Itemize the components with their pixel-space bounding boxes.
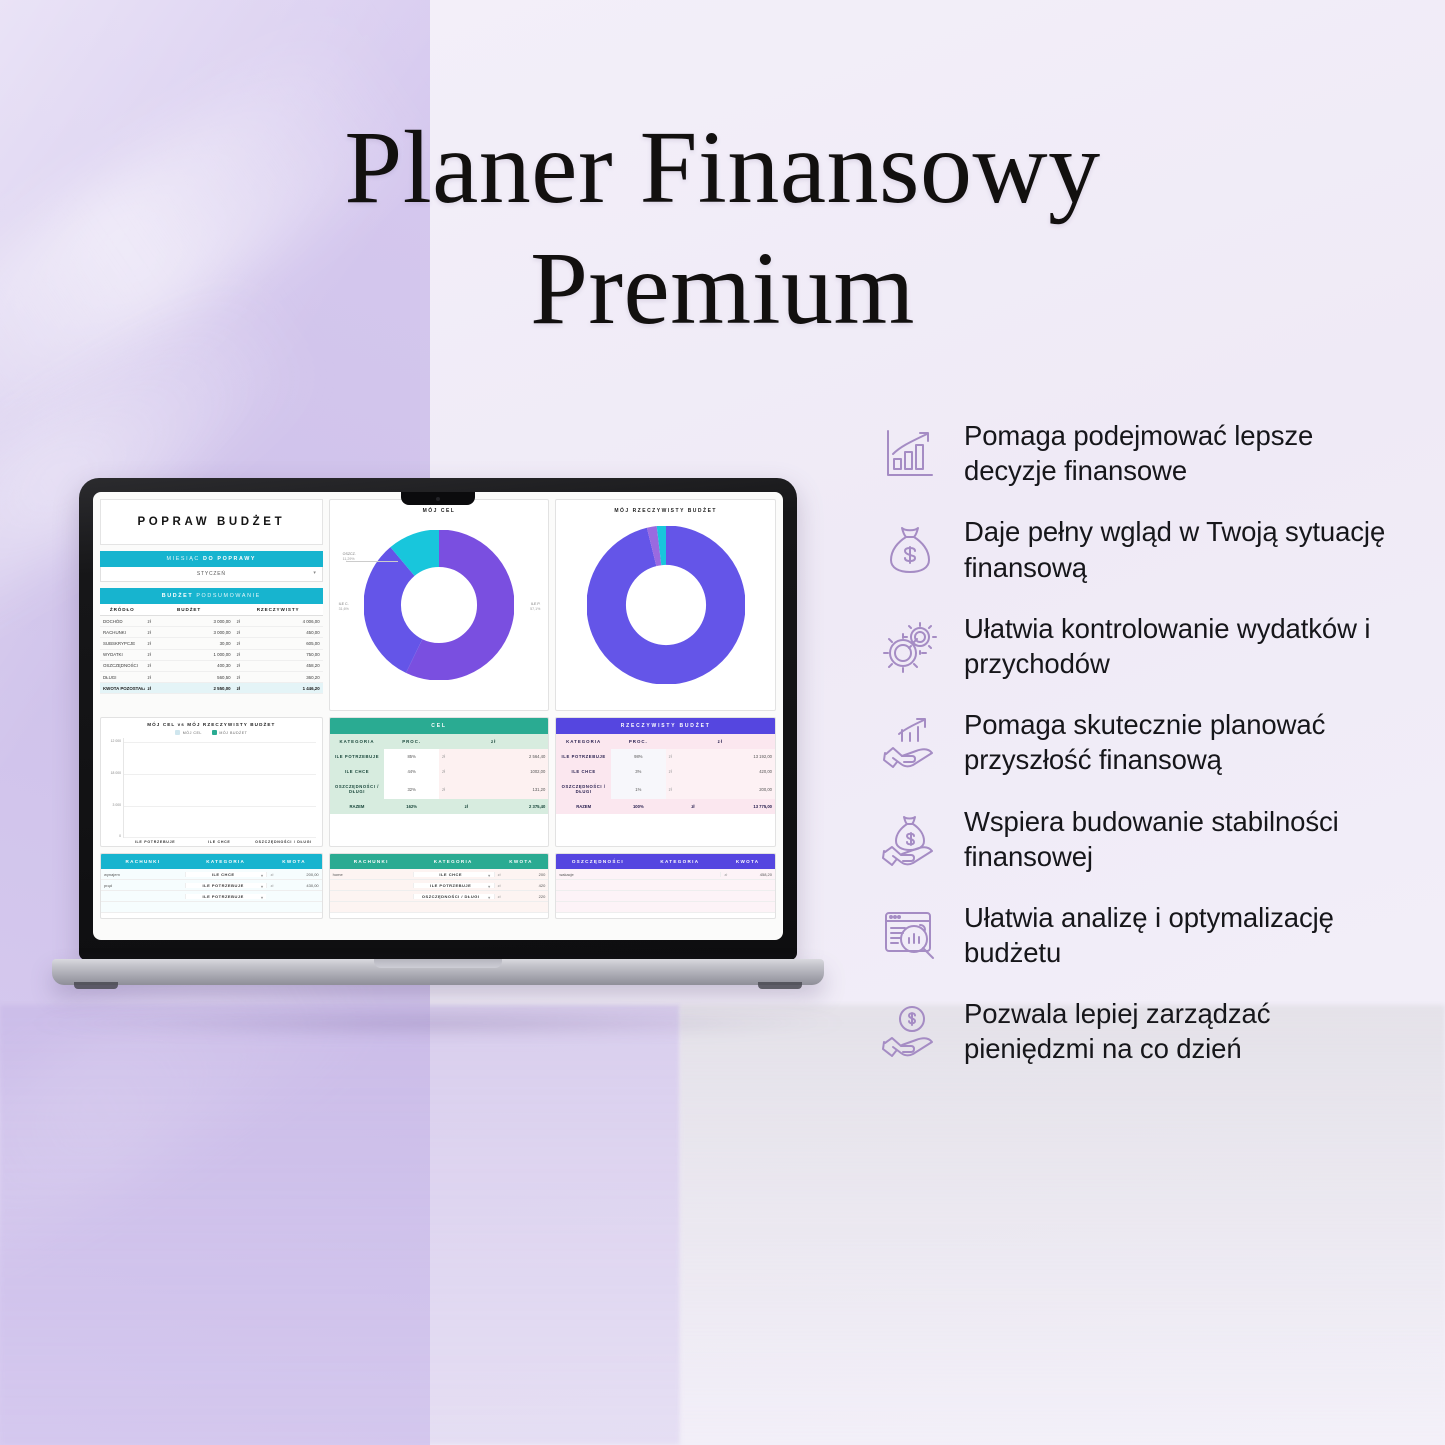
- cell-currency: zł: [498, 872, 501, 877]
- cell-currency: zł: [234, 683, 279, 694]
- cell-total-proc: 100%: [611, 799, 666, 814]
- goal-callout-oszcz-value: 11,29%: [343, 557, 355, 561]
- cell-kategoria: ILE CHCE: [330, 764, 385, 779]
- chevron-down-icon[interactable]: ▾: [488, 873, 491, 877]
- col-kwota: KWOTA: [266, 859, 321, 864]
- laptop-lid: POPRAW BUDŻET MIESIĄC DO POPRAWY STYCZEŃ…: [79, 478, 797, 960]
- expenses-ledger-header: RACHUNKI KATEGORIA KWOTA: [330, 854, 549, 869]
- goal-donut-card: MÓJ CEL OSZCZ.: [329, 499, 550, 711]
- goal-callout-ile-potrzebuje-value: 57,1%: [530, 607, 540, 611]
- cell-currency: zł: [234, 616, 279, 627]
- dashboard-header: POPRAW BUDŻET: [100, 499, 323, 545]
- cell-kwota[interactable]: zł200,00: [266, 872, 321, 877]
- cell-amount: 420,00: [720, 764, 775, 779]
- gears-icon: [878, 614, 942, 678]
- feature-item-1: Pomaga podejmować lepsze decyzje finanso…: [878, 418, 1398, 488]
- col-kategoria: KATEGORIA: [330, 734, 385, 749]
- cell-currency: zł: [234, 671, 279, 682]
- table-row: wynajemILE CHCE▾zł200,00: [101, 869, 322, 880]
- y-tick-1: 3 000: [113, 804, 122, 808]
- feature-label: Pomaga skutecznie planować przyszłość fi…: [964, 707, 1398, 777]
- month-selector-title-bold: DO POPRAWY: [203, 556, 256, 562]
- table-row: prądILE POTRZEBUJE▾zł430,00: [101, 880, 322, 891]
- table-row: SUBSKRYPCJEzł30,00zł605,00: [100, 638, 323, 649]
- cell-currency: zł: [666, 749, 721, 764]
- x-axis: ILE POTRZEBUJE ILE CHCE OSZCZĘDNOŚCI / D…: [123, 838, 316, 844]
- cell-kategoria: ILE POTRZEBUJE: [330, 749, 385, 764]
- savings-ledger-body: wakacje▾zł458,20▾▾▾: [556, 869, 775, 913]
- money-bag-icon: [878, 518, 942, 582]
- legend-label-budget: MÓJ BUDŻET: [219, 731, 247, 735]
- budget-summary-table: ŻRÓDŁO BUDŻET RZECZYWISTY DOCHÓDzł3 000,…: [100, 604, 323, 694]
- feature-label: Daje pełny wgląd w Twoją sytuację finans…: [964, 514, 1398, 584]
- cell-currency: zł: [145, 649, 190, 660]
- cell-currency: zł: [234, 627, 279, 638]
- month-select[interactable]: STYCZEŃ ▾: [100, 567, 323, 582]
- cell-currency: zł: [666, 764, 721, 779]
- cell-proc: 3%: [611, 764, 666, 779]
- comparison-bar-legend: MÓJ CEL MÓJ BUDŻET: [107, 730, 316, 735]
- page-title-line-2: Premium: [0, 229, 1445, 350]
- cell-kategoria: ILE CHCE: [556, 764, 611, 779]
- table-row: OSZCZĘDNOŚCI / DŁUGI1%zł200,00: [556, 779, 775, 799]
- budget-summary-column: POPRAW BUDŻET MIESIĄC DO POPRAWY STYCZEŃ…: [100, 499, 323, 711]
- col-proc: PROC.: [611, 734, 666, 749]
- cell-currency: zł: [666, 799, 721, 814]
- col-kategoria: KATEGORIA: [639, 859, 720, 864]
- col-source: ŻRÓDŁO: [100, 604, 145, 616]
- cell-proc: 98%: [611, 749, 666, 764]
- feature-item-7: Pozwala lepiej zarządzać pieniędzmi na c…: [878, 996, 1398, 1066]
- table-row: OSZCZĘDNOŚCI / DŁUGI32%zł131,20: [330, 779, 549, 799]
- cell-currency: zł: [724, 872, 727, 877]
- cell-currency: zł: [439, 749, 494, 764]
- legend-swatch-goal: [175, 730, 180, 735]
- budget-summary-title: BUDŻET PODSUMOWANIE: [100, 588, 323, 604]
- table-row: ILE CHCE44%zł1002,00: [330, 764, 549, 779]
- cel-table-card: CEL KATEGORIA PROC. zł ILE POTRZEBUJE85%…: [329, 717, 550, 847]
- chevron-down-icon[interactable]: ▾: [313, 570, 316, 576]
- comparison-bar-title: MÓJ CEL vs MÓJ RZECZYWISTY BUDŻET: [107, 722, 316, 727]
- cell-currency: zł: [439, 779, 494, 799]
- cell-kategoria[interactable]: ILE POTRZEBUJE▾: [185, 883, 267, 888]
- cel-table-title: CEL: [330, 718, 549, 734]
- cell-name[interactable]: wakacje: [556, 872, 639, 877]
- page-title-line-1: Planer Finansowy: [344, 110, 1100, 225]
- cell-currency: zł: [270, 883, 273, 888]
- table-row: wakacje▾zł458,20: [556, 869, 775, 880]
- cell-source: OSZCZĘDNOŚCI: [100, 660, 145, 671]
- cell-currency: zł: [145, 683, 190, 694]
- cell-kategoria: OSZCZĘDNOŚCI / DŁUGI: [330, 779, 385, 799]
- laptop-trackpad-notch: [374, 959, 502, 968]
- cell-currency: zł: [666, 779, 721, 799]
- expenses-ledger-body: homeILE CHCE▾zł200ILE POTRZEBUJE▾zł420OS…: [330, 869, 549, 913]
- col-kategoria: KATEGORIA: [413, 859, 494, 864]
- dashboard-row-1: POPRAW BUDŻET MIESIĄC DO POPRAWY STYCZEŃ…: [100, 499, 776, 711]
- col-oszczednosci: OSZCZĘDNOŚCI: [556, 859, 639, 864]
- month-selector-title: MIESIĄC DO POPRAWY: [100, 551, 323, 567]
- budget-summary-table-block: BUDŻET PODSUMOWANIE ŻRÓDŁO BUDŻET RZECZY…: [100, 588, 323, 694]
- table-header-row: ŻRÓDŁO BUDŻET RZECZYWISTY: [100, 604, 323, 616]
- cell-currency: zł: [145, 627, 190, 638]
- hand-money-bag-icon: [878, 807, 942, 871]
- month-select-value: STYCZEŃ: [197, 571, 226, 577]
- cell-proc: 1%: [611, 779, 666, 799]
- col-actual: RZECZYWISTY: [234, 604, 323, 616]
- chevron-down-icon[interactable]: ▾: [261, 895, 264, 899]
- cell-budget: 1 000,00: [189, 649, 234, 660]
- table-row: DOCHÓDzł3 000,00zł4 006,00: [100, 616, 323, 627]
- cell-currency: zł: [439, 764, 494, 779]
- laptop-foot-left: [74, 982, 118, 989]
- cell-currency: zł: [145, 616, 190, 627]
- bills-ledger-body: wynajemILE CHCE▾zł200,00prądILE POTRZEBU…: [101, 869, 322, 913]
- cell-kategoria: ILE POTRZEBUJE: [556, 749, 611, 764]
- table-total-row: RAZEM100%zł13 775,00: [556, 799, 775, 814]
- feature-list: Pomaga podejmować lepsze decyzje finanso…: [878, 418, 1398, 1093]
- chevron-down-icon[interactable]: ▾: [488, 895, 491, 899]
- feature-label: Pomaga podejmować lepsze decyzje finanso…: [964, 418, 1398, 488]
- cell-currency: zł: [498, 894, 501, 899]
- cell-total-label: RAZEM: [330, 799, 385, 814]
- goal-callout-ile-potrzebuje-name: ILE P.: [531, 602, 540, 606]
- table-row: ILE CHCE3%zł420,00: [556, 764, 775, 779]
- goal-callout-ile-chce-value: 31,6%: [339, 607, 349, 611]
- cell-source: WYDATKI: [100, 649, 145, 660]
- cell-currency: zł: [498, 883, 501, 888]
- x-tick-0: ILE POTRZEBUJE: [123, 838, 187, 844]
- col-zl: zł: [439, 734, 548, 749]
- col-rachunki: RACHUNKI: [101, 859, 185, 864]
- feature-item-5: Wspiera budowanie stabilności finansowej: [878, 804, 1398, 874]
- month-selector-title-light: MIESIĄC: [167, 556, 203, 562]
- goal-donut-svg: [364, 530, 514, 680]
- cell-kategoria[interactable]: ILE CHCE▾: [413, 872, 494, 877]
- laptop-mockup: POPRAW BUDŻET MIESIĄC DO POPRAWY STYCZEŃ…: [52, 478, 824, 985]
- feature-item-2: Daje pełny wgląd w Twoją sytuację finans…: [878, 514, 1398, 584]
- cell-kwota[interactable]: zł200: [494, 872, 549, 877]
- legend-label-goal: MÓJ CEL: [183, 731, 202, 735]
- cell-source: DOCHÓD: [100, 616, 145, 627]
- cell-kategoria[interactable]: ILE POTRZEBUJE▾: [413, 883, 494, 888]
- cell-name[interactable]: home: [330, 872, 413, 877]
- cell-name[interactable]: wynajem: [101, 872, 185, 877]
- cell-total-amount: 13 775,00: [720, 799, 775, 814]
- cell-amount: 13 192,00: [720, 749, 775, 764]
- goal-donut-chart: OSZCZ. 11,29% ILE C. 31,6% ILE P. 57,1%: [330, 516, 549, 694]
- cell-amount: 200,00: [720, 779, 775, 799]
- cell-currency: zł: [145, 660, 190, 671]
- savings-ledger-header: OSZCZĘDNOŚCI KATEGORIA KWOTA: [556, 854, 775, 869]
- goal-callout-ile-chce-name: ILE C.: [339, 602, 349, 606]
- goal-callout-oszcz: OSZCZ. 11,29%: [343, 552, 356, 563]
- cell-budget: 400,30: [189, 660, 234, 671]
- cell-currency: zł: [270, 872, 273, 877]
- bar-chart-growth-icon: [878, 421, 942, 485]
- rzecz-table-title: RZECZYWISTY BUDŻET: [556, 718, 775, 734]
- actual-donut-svg: [587, 526, 745, 684]
- cell-kategoria[interactable]: ILE POTRZEBUJE▾: [185, 894, 267, 899]
- cell-budget: 3 000,00: [189, 616, 234, 627]
- table-row: ▾: [556, 891, 775, 902]
- table-row: WYDATKIzł1 000,00zł750,00: [100, 649, 323, 660]
- col-kategoria: KATEGORIA: [185, 859, 267, 864]
- goal-callout-ile-potrzebuje: ILE P. 57,1%: [530, 602, 540, 613]
- cell-kategoria[interactable]: ILE CHCE▾: [185, 872, 267, 877]
- feature-item-4: Pomaga skutecznie planować przyszłość fi…: [878, 707, 1398, 777]
- cell-amount: 2 564,40: [494, 749, 549, 764]
- actual-donut-chart: [556, 516, 775, 694]
- cell-budget: 3 000,00: [189, 627, 234, 638]
- dashboard-row-3: RACHUNKI KATEGORIA KWOTA wynajemILE CHCE…: [100, 853, 776, 919]
- cell-amount: 1002,00: [494, 764, 549, 779]
- cell-currency: zł: [234, 638, 279, 649]
- analytics-magnifier-icon: [878, 903, 942, 967]
- col-kwota: KWOTA: [494, 859, 549, 864]
- col-kwota: KWOTA: [720, 859, 775, 864]
- bar-plot: 12 000 18 000 3 000 0: [107, 738, 316, 838]
- bar-plot-area: [123, 738, 316, 838]
- cell-total-budget: 2 550,00: [189, 683, 234, 694]
- savings-ledger-card: OSZCZĘDNOŚCI KATEGORIA KWOTA wakacje▾zł4…: [555, 853, 776, 919]
- cell-kategoria: OSZCZĘDNOŚCI / DŁUGI: [556, 779, 611, 799]
- cell-kwota[interactable]: zł430,00: [266, 883, 321, 888]
- feature-item-3: Ułatwia kontrolowanie wydatków i przycho…: [878, 611, 1398, 681]
- bar-series-container: [124, 738, 316, 838]
- cell-amount: 131,20: [494, 779, 549, 799]
- col-zl: zł: [666, 734, 775, 749]
- hand-coin-icon: [878, 999, 942, 1063]
- cell-total-amount: 2 375,40: [494, 799, 549, 814]
- cell-currency: zł: [234, 649, 279, 660]
- budget-summary-title-light: PODSUMOWANIE: [196, 593, 261, 599]
- cell-actual: 4 006,00: [278, 616, 323, 627]
- background-lower-band-left: [0, 1005, 680, 1445]
- cell-total-actual: 1 446,20: [278, 683, 323, 694]
- cell-currency: zł: [439, 799, 494, 814]
- comparison-bar-chart: MÓJ CEL vs MÓJ RZECZYWISTY BUDŻET MÓJ CE…: [101, 718, 322, 846]
- chevron-down-icon[interactable]: ▾: [261, 873, 264, 877]
- table-header-row: KATEGORIA PROC. zł: [330, 734, 549, 749]
- table-row: ▾: [101, 902, 322, 913]
- goal-callout-oszcz-name: OSZCZ.: [343, 552, 356, 556]
- legend-swatch-budget: [212, 730, 217, 735]
- cell-total-proc: 162%: [384, 799, 439, 814]
- goal-callout-ile-chce: ILE C. 31,6%: [339, 602, 349, 613]
- col-rachunki: RACHUNKI: [330, 859, 413, 864]
- cell-kategoria[interactable]: OSZCZĘDNOŚCI / DŁUGI▾: [413, 894, 494, 899]
- y-tick-0: 0: [119, 835, 121, 839]
- webcam-icon: [436, 497, 440, 501]
- page-title: Planer Finansowy Premium: [0, 108, 1445, 349]
- cell-total-label: RAZEM: [556, 799, 611, 814]
- cell-currency: zł: [145, 671, 190, 682]
- table-row: OSZCZĘDNOŚCI / DŁUGI▾zł220: [330, 891, 549, 902]
- laptop-screen: POPRAW BUDŻET MIESIĄC DO POPRAWY STYCZEŃ…: [93, 492, 783, 940]
- table-total-row: KWOTA POZOSTAŁAzł2 550,00zł1 446,20: [100, 683, 323, 694]
- dashboard-row-2: MÓJ CEL vs MÓJ RZECZYWISTY BUDŻET MÓJ CE…: [100, 717, 776, 847]
- budget-summary-title-bold: BUDŻET: [162, 593, 197, 599]
- laptop-base: [52, 959, 824, 985]
- table-row: ▾: [556, 902, 775, 913]
- table-row: OSZCZĘDNOŚCIzł400,30zł458,20: [100, 660, 323, 671]
- hand-growth-chart-icon: [878, 710, 942, 774]
- feature-label: Ułatwia kontrolowanie wydatków i przycho…: [964, 611, 1398, 681]
- month-selector-block: MIESIĄC DO POPRAWY STYCZEŃ ▾: [100, 551, 323, 582]
- bills-ledger-card: RACHUNKI KATEGORIA KWOTA wynajemILE CHCE…: [100, 853, 323, 919]
- table-row: RACHUNKIzł3 000,00zł450,00: [100, 627, 323, 638]
- cell-kwota[interactable]: zł220: [494, 894, 549, 899]
- feature-label: Pozwala lepiej zarządzać pieniędzmi na c…: [964, 996, 1398, 1066]
- cel-table: KATEGORIA PROC. zł ILE POTRZEBUJE85%zł2 …: [330, 734, 549, 814]
- legend-item-budget: MÓJ BUDŻET: [212, 730, 247, 735]
- actual-donut-title: MÓJ RZECZYWISTY BUDŻET: [556, 500, 775, 516]
- cell-proc: 44%: [384, 764, 439, 779]
- table-row: ILE POTRZEBUJE▾zł420: [330, 880, 549, 891]
- y-tick-2: 18 000: [111, 772, 121, 776]
- cell-actual: 605,00: [278, 638, 323, 649]
- comparison-bar-card: MÓJ CEL vs MÓJ RZECZYWISTY BUDŻET MÓJ CE…: [100, 717, 323, 847]
- laptop-foot-right: [758, 982, 802, 989]
- laptop-notch: [401, 492, 475, 505]
- cell-currency: zł: [234, 660, 279, 671]
- y-tick-3: 12 000: [111, 740, 121, 744]
- y-axis: 12 000 18 000 3 000 0: [107, 738, 123, 838]
- cell-total-label: KWOTA POZOSTAŁA: [100, 683, 145, 694]
- cell-name[interactable]: prąd: [101, 883, 185, 888]
- spreadsheet-dashboard: POPRAW BUDŻET MIESIĄC DO POPRAWY STYCZEŃ…: [93, 492, 783, 940]
- col-proc: PROC.: [384, 734, 439, 749]
- col-budget: BUDŻET: [145, 604, 234, 616]
- cell-source: RACHUNKI: [100, 627, 145, 638]
- cell-source: SUBSKRYPCJE: [100, 638, 145, 649]
- dashboard-header-label: POPRAW BUDŻET: [137, 516, 285, 528]
- feature-label: Ułatwia analizę i optymalizację budżetu: [964, 900, 1398, 970]
- legend-item-goal: MÓJ CEL: [175, 730, 202, 735]
- chevron-down-icon[interactable]: ▾: [261, 884, 264, 888]
- bills-ledger-header: RACHUNKI KATEGORIA KWOTA: [101, 854, 322, 869]
- table-row: ILE POTRZEBUJE85%zł2 564,40: [330, 749, 549, 764]
- cell-actual: 360,20: [278, 671, 323, 682]
- table-row: ▾: [556, 880, 775, 891]
- table-row: ILE POTRZEBUJE98%zł13 192,00: [556, 749, 775, 764]
- cell-budget: 30,00: [189, 638, 234, 649]
- cell-proc: 32%: [384, 779, 439, 799]
- table-row: ILE POTRZEBUJE▾: [101, 891, 322, 902]
- cell-actual: 450,00: [278, 627, 323, 638]
- col-kategoria: KATEGORIA: [556, 734, 611, 749]
- actual-donut-card: MÓJ RZECZYWISTY BUDŻET: [555, 499, 776, 711]
- feature-label: Wspiera budowanie stabilności finansowej: [964, 804, 1398, 874]
- feature-item-6: Ułatwia analizę i optymalizację budżetu: [878, 900, 1398, 970]
- chevron-down-icon[interactable]: ▾: [488, 884, 491, 888]
- cell-actual: 750,00: [278, 649, 323, 660]
- table-header-row: KATEGORIA PROC. zł: [556, 734, 775, 749]
- rzecz-table: KATEGORIA PROC. zł ILE POTRZEBUJE98%zł13…: [556, 734, 775, 814]
- table-row: DŁUGIzł560,50zł360,20: [100, 671, 323, 682]
- cell-currency: zł: [145, 638, 190, 649]
- x-tick-2: OSZCZĘDNOŚCI / DŁUGI: [251, 838, 315, 844]
- cell-actual: 458,20: [278, 660, 323, 671]
- cell-kwota[interactable]: zł420: [494, 883, 549, 888]
- table-row: ▾: [330, 902, 549, 913]
- cell-source: DŁUGI: [100, 671, 145, 682]
- x-tick-1: ILE CHCE: [187, 838, 251, 844]
- rzecz-table-card: RZECZYWISTY BUDŻET KATEGORIA PROC. zł IL…: [555, 717, 776, 847]
- cell-kwota[interactable]: zł458,20: [720, 872, 775, 877]
- table-total-row: RAZEM162%zł2 375,40: [330, 799, 549, 814]
- cell-budget: 560,50: [189, 671, 234, 682]
- laptop-shadow: [18, 1010, 858, 1036]
- expenses-ledger-card: RACHUNKI KATEGORIA KWOTA homeILE CHCE▾zł…: [329, 853, 550, 919]
- cell-proc: 85%: [384, 749, 439, 764]
- table-row: homeILE CHCE▾zł200: [330, 869, 549, 880]
